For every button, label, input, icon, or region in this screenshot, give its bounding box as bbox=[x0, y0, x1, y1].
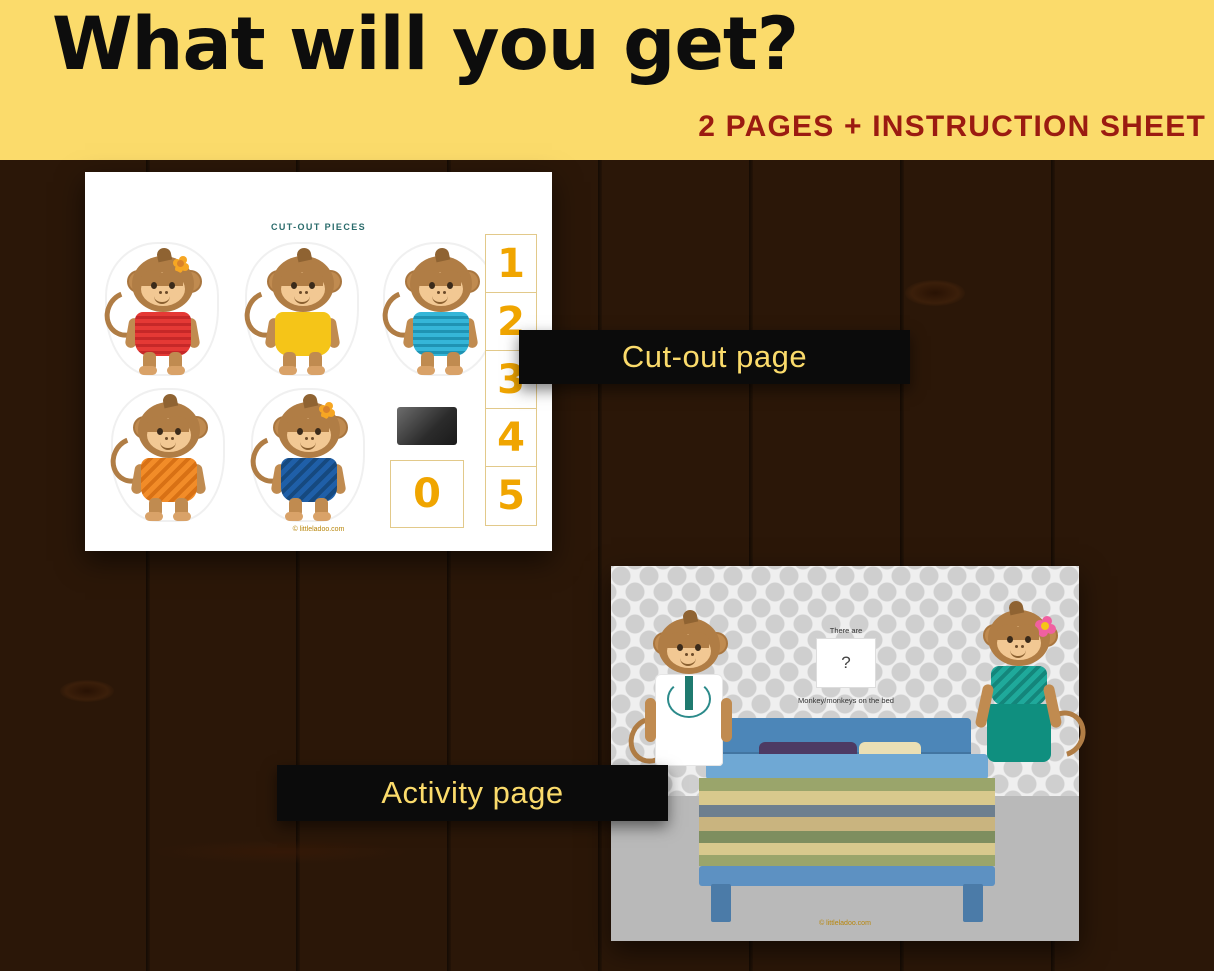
monkey-foot bbox=[313, 512, 331, 521]
label-activity-page: Activity page bbox=[277, 765, 668, 821]
bed-leg bbox=[963, 884, 983, 922]
header-banner: What will you get? 2 PAGES + INSTRUCTION… bbox=[0, 0, 1214, 160]
nurse-skirt bbox=[987, 704, 1051, 762]
wood-knot bbox=[60, 680, 114, 702]
prompt-top-text: There are bbox=[771, 626, 921, 635]
number-card-4: 4 bbox=[485, 408, 537, 468]
monkey-shirt bbox=[275, 312, 331, 356]
monkey-foot bbox=[417, 366, 435, 375]
number-card-5-label: 5 bbox=[497, 473, 525, 519]
plank-divider bbox=[598, 160, 602, 971]
activity-page-image: There are ? Monkey/monkeys on the bed bbox=[611, 566, 1079, 941]
number-card-0: 0 bbox=[390, 460, 464, 528]
monkey-eye bbox=[297, 428, 303, 435]
stethoscope-icon bbox=[667, 680, 711, 718]
monkey-eye bbox=[157, 428, 163, 435]
monkey-figure-orange bbox=[113, 390, 223, 520]
monkey-foot bbox=[145, 512, 163, 521]
banner-subtitle: 2 PAGES + INSTRUCTION SHEET bbox=[698, 110, 1206, 144]
monkey-eye bbox=[151, 282, 157, 289]
cutout-page-heading: CUT-OUT PIECES bbox=[85, 222, 552, 232]
wood-knot bbox=[905, 280, 965, 306]
monkey-shirt bbox=[413, 312, 469, 356]
monkey-foot bbox=[139, 366, 157, 375]
monkey-eye bbox=[1007, 636, 1013, 643]
monkey-shirt bbox=[281, 458, 337, 502]
monkey-foot bbox=[167, 366, 185, 375]
monkey-arm bbox=[645, 698, 656, 742]
cutout-page-image: CUT-OUT PIECES bbox=[85, 172, 552, 551]
monkey-eye bbox=[309, 282, 315, 289]
bed-mattress bbox=[706, 754, 988, 780]
monkey-foot bbox=[173, 512, 191, 521]
monkey-arm bbox=[721, 698, 732, 742]
wood-grain bbox=[150, 840, 410, 864]
monkey-figure-blue bbox=[253, 390, 363, 520]
nurse-monkey bbox=[963, 598, 1073, 808]
cutout-page-credit: © littleladoo.com bbox=[85, 526, 552, 533]
monkey-figure-cyan bbox=[385, 244, 495, 374]
nurse-top bbox=[991, 666, 1047, 706]
monkey-eye bbox=[175, 428, 181, 435]
monkey-eye bbox=[695, 644, 701, 651]
monkey-foot bbox=[285, 512, 303, 521]
monkey-eye bbox=[315, 428, 321, 435]
monkey-eye bbox=[677, 644, 683, 651]
monkey-eye bbox=[1025, 636, 1031, 643]
page-title: What will you get? bbox=[52, 8, 798, 81]
blanket-stripe bbox=[699, 778, 995, 791]
label-activity-text: Activity page bbox=[381, 775, 563, 811]
blanket-stripe bbox=[699, 817, 995, 831]
blanket-stripe bbox=[699, 855, 995, 866]
monkey-eye bbox=[291, 282, 297, 289]
number-card-1: 1 bbox=[485, 234, 537, 294]
blanket-stripe bbox=[699, 843, 995, 855]
blanket-stripe bbox=[699, 805, 995, 817]
prompt-bottom-text: Monkey/monkeys on the bed bbox=[731, 696, 961, 705]
number-card-4-label: 4 bbox=[497, 415, 525, 461]
blanket-stripe bbox=[699, 831, 995, 843]
monkey-eye bbox=[447, 282, 453, 289]
answer-card: ? bbox=[816, 638, 876, 688]
monkey-figure-yellow bbox=[247, 244, 357, 374]
monkey-foot bbox=[307, 366, 325, 375]
monkey-figure-red bbox=[107, 244, 217, 374]
answer-card-value: ? bbox=[841, 653, 850, 673]
monkey-foot bbox=[445, 366, 463, 375]
monkey-foot bbox=[279, 366, 297, 375]
bed-leg bbox=[711, 884, 731, 922]
bed-base bbox=[699, 866, 995, 886]
monkey-eye bbox=[169, 282, 175, 289]
monkey-shirt bbox=[141, 458, 197, 502]
number-card-5: 5 bbox=[485, 466, 537, 526]
label-cutout-text: Cut-out page bbox=[622, 339, 807, 375]
number-card-0-label: 0 bbox=[413, 471, 441, 517]
label-cutout-page: Cut-out page bbox=[519, 330, 910, 384]
blanket-stripe bbox=[699, 791, 995, 805]
pillow-cutout-piece bbox=[397, 407, 457, 445]
monkey-shirt bbox=[135, 312, 191, 356]
screenshot-root: What will you get? 2 PAGES + INSTRUCTION… bbox=[0, 0, 1214, 971]
monkey-eye bbox=[429, 282, 435, 289]
activity-page-credit: © littleladoo.com bbox=[611, 920, 1079, 927]
number-card-1-label: 1 bbox=[497, 241, 525, 287]
